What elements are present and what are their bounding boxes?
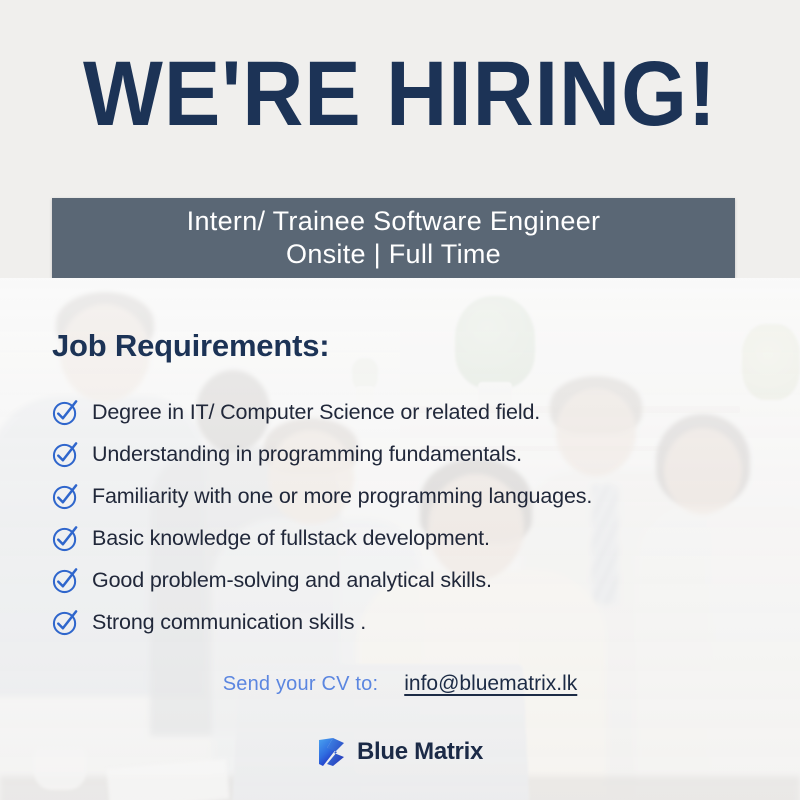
contact-email-link[interactable]: info@bluematrix.lk <box>404 672 577 696</box>
list-item-label: Degree in IT/ Computer Science or relate… <box>92 400 540 425</box>
list-item-label: Good problem-solving and analytical skil… <box>92 568 492 593</box>
list-item-label: Familiarity with one or more programming… <box>92 484 592 509</box>
list-item: Degree in IT/ Computer Science or relate… <box>52 391 792 433</box>
job-mode-line: Onsite | Full Time <box>286 238 501 271</box>
list-item-label: Strong communication skills . <box>92 610 366 635</box>
circle-check-icon <box>52 609 79 636</box>
list-item: Basic knowledge of fullstack development… <box>52 517 792 559</box>
job-title-line: Intern/ Trainee Software Engineer <box>187 205 601 238</box>
contact-row: Send your CV to: info@bluematrix.lk <box>0 672 800 696</box>
circle-check-icon <box>52 483 79 510</box>
requirements-heading: Job Requirements: <box>52 328 329 364</box>
send-cv-label: Send your CV to: <box>223 673 379 696</box>
circle-check-icon <box>52 399 79 426</box>
company-logo: Blue Matrix <box>0 736 800 768</box>
list-item: Strong communication skills . <box>52 601 792 643</box>
blue-matrix-logo-icon <box>317 736 347 768</box>
circle-check-icon <box>52 441 79 468</box>
list-item: Good problem-solving and analytical skil… <box>52 559 792 601</box>
requirements-list: Degree in IT/ Computer Science or relate… <box>52 391 792 643</box>
job-title-banner: Intern/ Trainee Software Engineer Onsite… <box>52 198 735 278</box>
company-name: Blue Matrix <box>357 738 483 766</box>
list-item: Understanding in programming fundamental… <box>52 433 792 475</box>
circle-check-icon <box>52 525 79 552</box>
circle-check-icon <box>52 567 79 594</box>
list-item-label: Basic knowledge of fullstack development… <box>92 526 490 551</box>
page-title: WE'RE HIRING! <box>32 44 768 144</box>
hiring-poster: WE'RE HIRING! Intern/ Trainee Software E… <box>0 0 800 800</box>
poster-content: Job Requirements: Degree in IT/ Computer… <box>0 278 800 800</box>
list-item-label: Understanding in programming fundamental… <box>92 442 522 467</box>
list-item: Familiarity with one or more programming… <box>52 475 792 517</box>
